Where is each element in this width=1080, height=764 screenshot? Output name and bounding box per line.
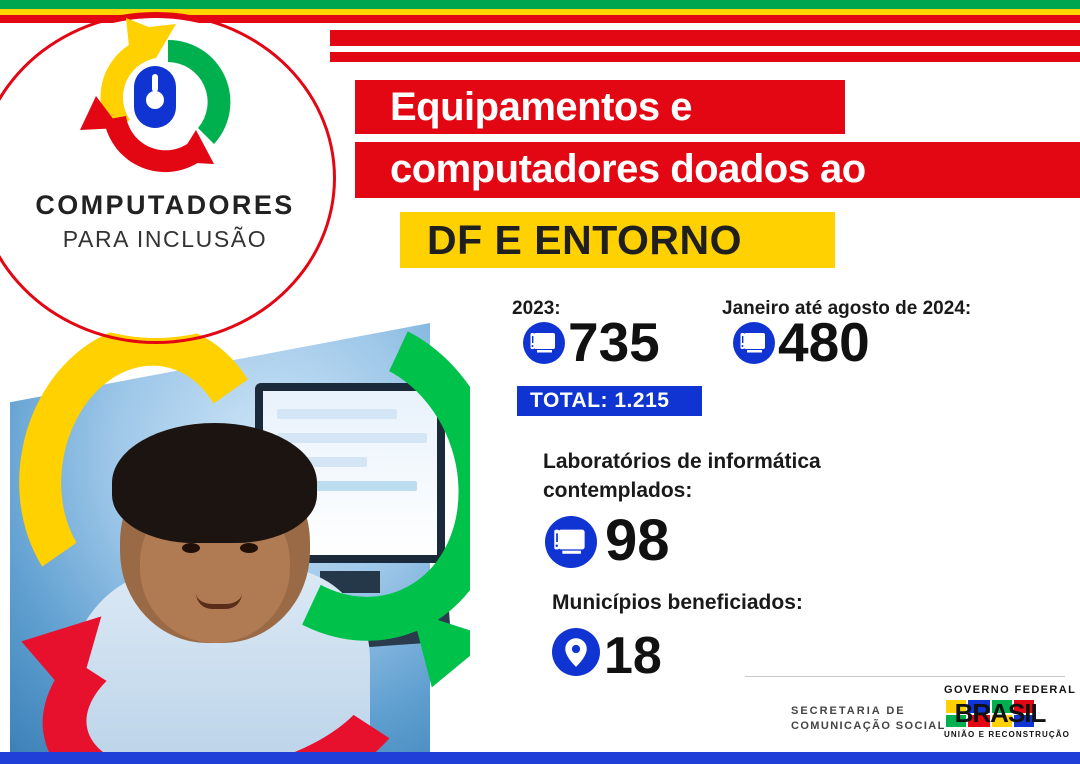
- logo-mark: COMPUTADORES PARA INCLUSÃO: [0, 0, 348, 320]
- gov-federal-label: GOVERNO FEDERAL: [944, 684, 1076, 696]
- stat-label-municipalities: Municípios beneficiados:: [552, 591, 803, 615]
- monitor-icon: [733, 322, 775, 364]
- stat-value-municipalities: 18: [604, 629, 662, 684]
- stat-value-labs: 98: [605, 513, 670, 568]
- brasil-wordmark: BRASIL: [944, 698, 1056, 728]
- logo-title: COMPUTADORES: [0, 190, 330, 221]
- stat-label-labs-line2: contemplados:: [543, 479, 692, 503]
- monitor-icon: [545, 516, 597, 568]
- bottom-bar: [0, 752, 1080, 764]
- stat-value-2024: 480: [778, 315, 870, 370]
- secom-line1: SECRETARIA DE: [791, 705, 906, 717]
- secom-line2: COMUNICAÇÃO SOCIAL: [791, 720, 946, 732]
- headline-line3: DF E ENTORNO: [427, 212, 742, 268]
- headline-line2: computadores doados ao: [390, 142, 866, 196]
- brasil-logo: BRASIL: [944, 698, 1056, 728]
- gov-tagline: UNIÃO E RECONSTRUÇÃO: [944, 730, 1070, 739]
- stat-value-2023: 735: [568, 315, 660, 370]
- logo-subtitle: PARA INCLUSÃO: [0, 226, 330, 253]
- stat-label-2023: 2023:: [512, 298, 561, 320]
- monitor-icon: [523, 322, 565, 364]
- map-pin-icon: [552, 628, 600, 676]
- stat-label-labs-line1: Laboratórios de informática: [543, 450, 821, 474]
- headline-line1: Equipamentos e: [390, 80, 692, 134]
- footer-divider: [745, 676, 1065, 677]
- total-badge-label: TOTAL: 1.215: [530, 386, 669, 416]
- recycle-mouse-icon: [0, 0, 348, 190]
